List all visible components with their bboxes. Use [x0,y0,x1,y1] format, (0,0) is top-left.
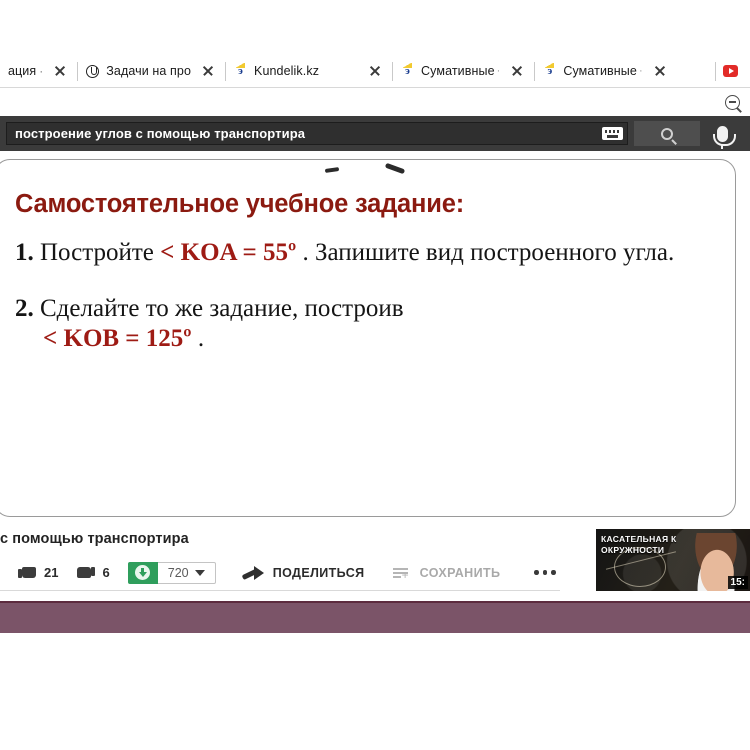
tab-close-icon[interactable] [650,61,670,81]
tab-close-icon[interactable] [507,61,527,81]
quality-select[interactable]: 720 [158,562,216,584]
browser-tab-strip: ация · Задачи на про э Kundelik.kz э Сум… [0,55,750,88]
task-item-2: 2. Сделайте то же задание, построив < KO… [15,294,721,355]
browser-tab-3[interactable]: э Сумативные · [392,55,534,88]
suggested-video-thumbnail[interactable]: КАСАТЕЛЬНАЯ К ОКРУЖНОСТИ 15: [596,529,750,591]
video-player-area[interactable]: Самостоятельное учебное задание: 1. Пост… [0,151,750,523]
thumbnail-line-1: КАСАТЕЛЬНАЯ К [601,534,677,544]
download-control-group[interactable]: 720 [128,562,216,584]
tab-close-icon[interactable] [50,61,70,81]
bottom-blank-area [0,633,750,750]
save-to-playlist-icon [393,566,411,580]
search-input[interactable]: построение углов с помощью транспортира [6,122,628,145]
slide-heading: Самостоятельное учебное задание: [15,190,721,219]
thumbnail-line-2: ОКРУЖНОСТИ [601,545,664,555]
share-button[interactable]: ПОДЕЛИТЬСЯ [216,565,365,581]
el-icon: э [400,64,415,79]
search-bar: построение углов с помощью транспортира [0,116,750,151]
slide-content: Самостоятельное учебное задание: 1. Пост… [15,164,721,355]
task-text-post: . Запишите вид построенного угла. [296,239,674,266]
download-button[interactable] [128,562,158,584]
thumbs-up-icon [18,563,37,582]
save-button[interactable]: СОХРАНИТЬ [365,566,501,580]
task-text-pre: Постройте [34,239,160,266]
browser-tab-4[interactable]: э Сумативные · [534,55,676,88]
youtube-icon [723,64,738,79]
more-options-icon[interactable] [534,570,556,575]
slide-cropped-marks [15,164,721,178]
lesson-slide-card: Самостоятельное учебное задание: 1. Пост… [0,159,736,517]
tab-title: Сумативные [421,64,495,78]
task-item-1: 1. Постройте < KOA = 55º . Запишите вид … [15,238,721,269]
keyboard-icon[interactable] [602,127,623,140]
like-count: 21 [44,565,58,580]
browser-tab-youtube[interactable] [715,55,750,88]
tab-close-icon[interactable] [198,61,218,81]
browser-zoom-row [0,88,750,116]
zoom-out-icon[interactable] [725,95,740,110]
tab-title: Сумативные [563,64,637,78]
tab-ellipsis: · [639,65,643,77]
search-submit-button[interactable] [634,121,700,146]
tab-close-icon[interactable] [365,61,385,81]
video-action-row: 21 6 720 ПОДЕЛИТЬСЯ [0,555,560,591]
microphone-icon [717,126,728,142]
thumbs-down-icon [76,563,95,582]
quality-value: 720 [168,566,189,580]
like-button[interactable]: 21 [0,563,58,582]
task-angle-expression: < KOB = 125º [43,325,192,352]
share-label: ПОДЕЛИТЬСЯ [273,566,365,580]
share-icon [242,565,264,581]
dislike-button[interactable]: 6 [58,563,109,582]
browser-tab-2[interactable]: э Kundelik.kz [225,55,392,88]
browser-tab-0[interactable]: ация · [0,55,77,88]
tab-title: Задачи на про [106,64,191,78]
task-text-pre: Сделайте то же задание, построив [34,295,404,322]
save-label: СОХРАНИТЬ [420,566,501,580]
search-icon [661,128,673,140]
dislike-count: 6 [102,565,109,580]
el-icon: э [542,64,557,79]
top-blank-area [0,0,750,55]
tab-title: ация [8,64,36,78]
task-text-post: . [192,325,205,352]
task-angle-expression: < KOA = 55º [160,239,296,266]
download-icon [135,565,150,580]
task-number: 1. [15,239,34,266]
ring-icon [85,64,100,79]
voice-search-button[interactable] [700,116,744,151]
tab-ellipsis: · [497,65,501,77]
video-meta-bar: с помощью транспортира 21 6 720 [0,523,750,601]
search-query-text: построение углов с помощью транспортира [15,126,598,141]
screen-root: ация · Задачи на про э Kundelik.kz э Сум… [0,0,750,750]
el-icon: э [233,64,248,79]
tab-ellipsis: · [39,64,43,78]
tab-title: Kundelik.kz [254,64,319,78]
task-number: 2. [15,295,34,322]
browser-tab-1[interactable]: Задачи на про [77,55,225,88]
thumbnail-text: КАСАТЕЛЬНАЯ К ОКРУЖНОСТИ [601,534,677,555]
chevron-down-icon [195,570,205,576]
task-second-line: < KOB = 125º . [15,324,721,355]
thumbnail-duration-badge: 15: [728,576,748,589]
desktop-accent-band [0,601,750,633]
